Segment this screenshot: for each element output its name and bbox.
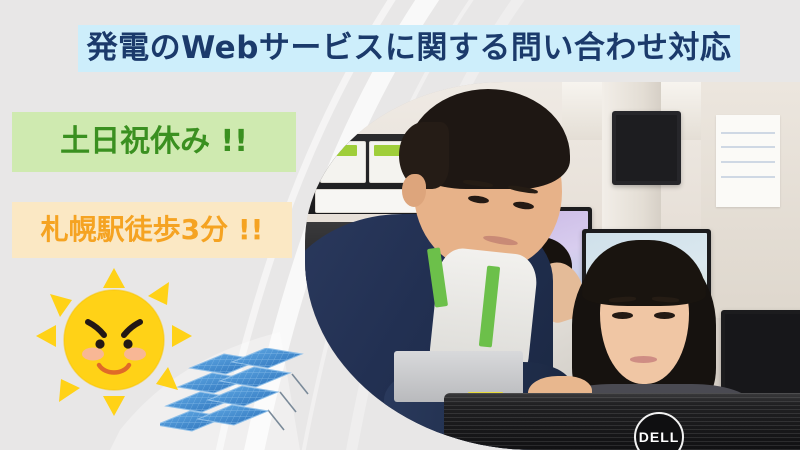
page-title: 発電のWebサービスに関する問い合わせ対応 (87, 33, 732, 64)
solar-panel-array (160, 348, 335, 450)
title-banner: 発電のWebサービスに関する問い合わせ対応 (78, 25, 740, 72)
dell-logo-text: DELL (639, 429, 680, 445)
dell-monitor: DELL (444, 393, 800, 450)
office-photo: DELL (305, 82, 800, 450)
poster-canvas: DELL 発電のWebサービスに関する問い合わせ対応 土日祝休み !! 札幌駅徒… (0, 0, 800, 450)
badge-station-access: 札幌駅徒歩3分 !! (12, 202, 292, 258)
badge-station-access-label: 札幌駅徒歩3分 !! (41, 216, 264, 244)
solar-panel-icon (160, 348, 335, 450)
badge-holidays: 土日祝休み !! (12, 112, 296, 172)
badge-holidays-label: 土日祝休み !! (60, 127, 248, 157)
